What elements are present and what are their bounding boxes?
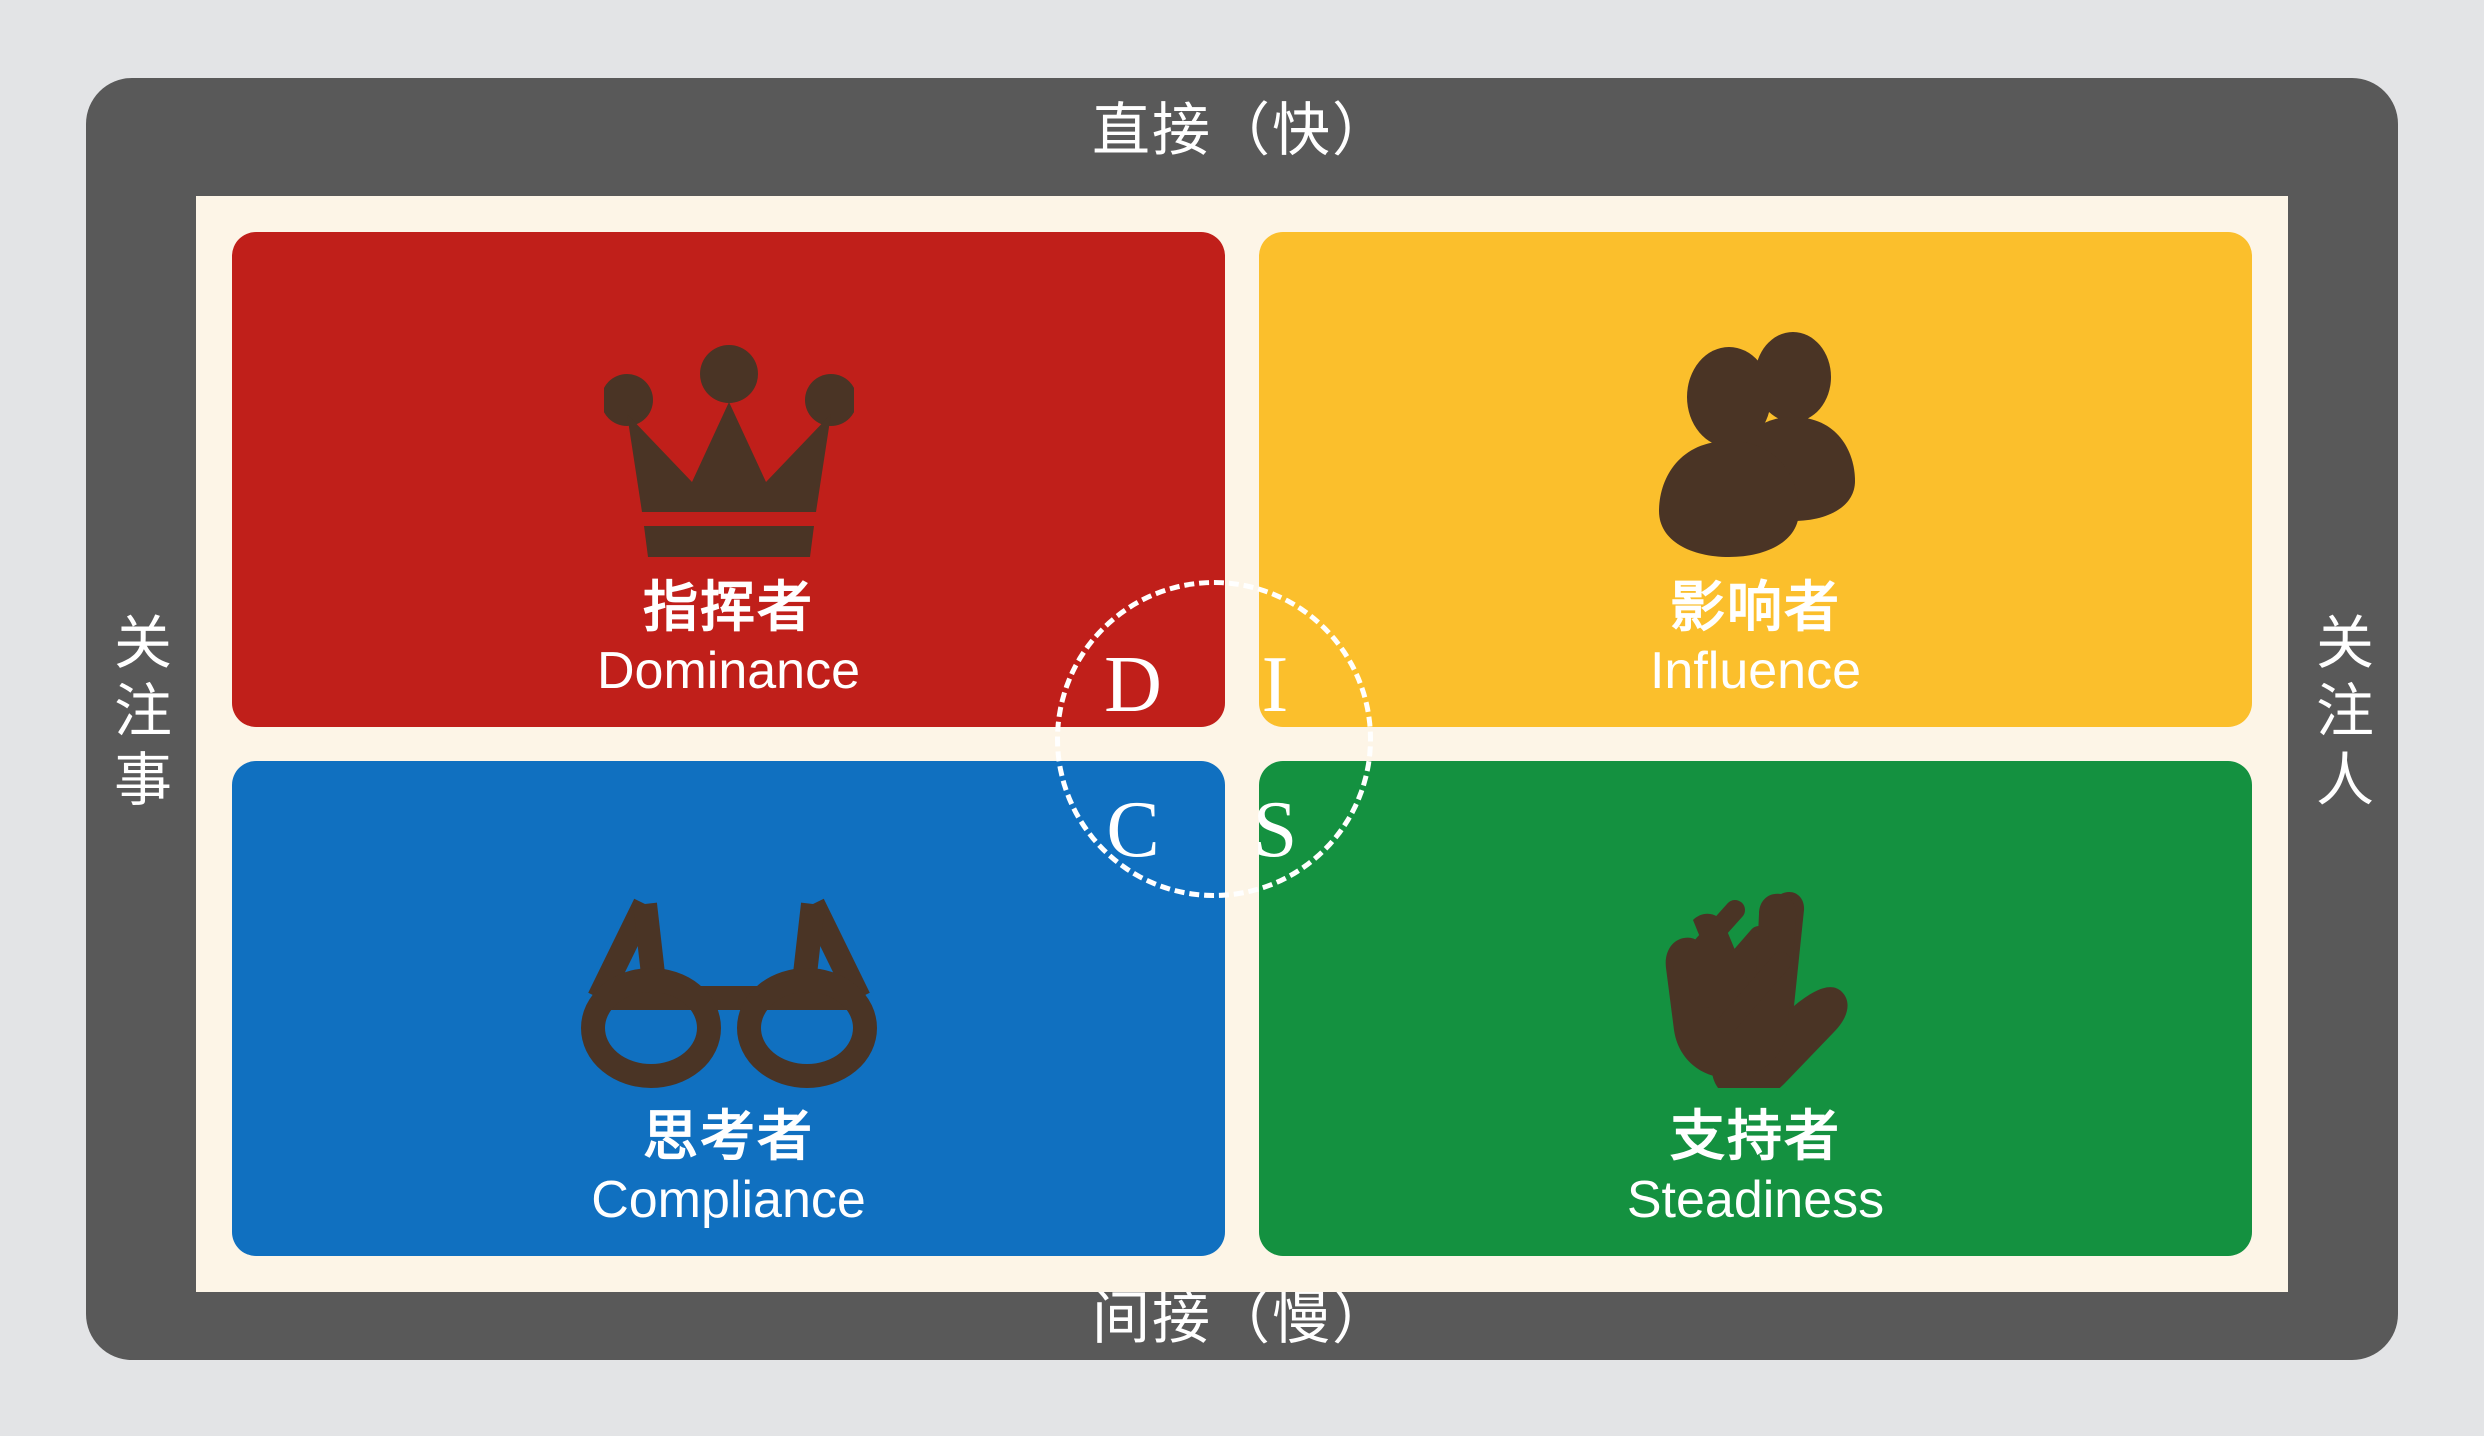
axis-label-bottom: 间接（慢） — [0, 1290, 2484, 1348]
quadrant-labels: 支持者 Steadiness — [1627, 1106, 1884, 1230]
glasses-icon — [569, 788, 889, 1088]
quadrant-name-en: Compliance — [591, 1171, 866, 1229]
quadrant-labels: 思考者 Compliance — [591, 1106, 866, 1230]
quadrant-labels: 影响者 Influence — [1650, 577, 1861, 701]
crown-icon — [604, 259, 854, 559]
axis-label-left: 关注事 — [98, 610, 188, 815]
quadrant-name-en: Dominance — [597, 642, 860, 700]
axis-label-top: 直接（快） — [0, 102, 2484, 160]
axis-label-right: 关注人 — [2300, 610, 2390, 815]
quadrant-name-cn: 思考者 — [591, 1106, 866, 1168]
inner-panel: 指挥者 Dominance — [196, 196, 2288, 1292]
quadrant-influence[interactable]: 影响者 Influence — [1259, 232, 2252, 727]
quadrant-grid: 指挥者 Dominance — [232, 232, 2252, 1256]
clapping-hands-icon — [1631, 788, 1881, 1088]
quadrant-steadiness[interactable]: 支持者 Steadiness — [1259, 761, 2252, 1256]
quadrant-name-en: Influence — [1650, 642, 1861, 700]
quadrant-name-cn: 指挥者 — [597, 577, 860, 639]
quadrant-labels: 指挥者 Dominance — [597, 577, 860, 701]
quadrant-name-en: Steadiness — [1627, 1171, 1884, 1229]
quadrant-name-cn: 影响者 — [1650, 577, 1861, 639]
quadrant-compliance[interactable]: 思考者 Compliance — [232, 761, 1225, 1256]
center-letter-i: I — [1240, 645, 1310, 725]
disc-model-diagram: 直接（快） 间接（慢） 关注事 关注人 — [0, 0, 2484, 1436]
center-letter-d: D — [1098, 645, 1168, 725]
quadrant-name-cn: 支持者 — [1627, 1106, 1884, 1168]
center-letter-c: C — [1098, 790, 1168, 870]
center-letter-s: S — [1240, 790, 1310, 870]
two-people-icon — [1641, 259, 1871, 559]
quadrant-dominance[interactable]: 指挥者 Dominance — [232, 232, 1225, 727]
